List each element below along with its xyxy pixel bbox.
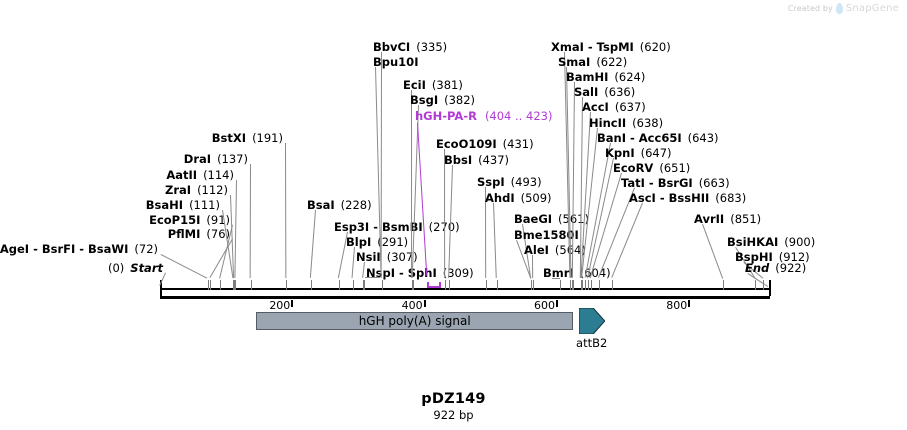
label-separator: - [645, 176, 658, 190]
enzyme-position: (291) [377, 235, 408, 249]
enzyme-label-BsaI: BsaI(228) [307, 199, 372, 211]
snapgene-watermark: Created by SnapGene [788, 3, 899, 14]
watermark-created-by: Created by [788, 4, 833, 13]
leader-line-BstXI [285, 143, 286, 278]
enzyme-name: BstXI [212, 131, 246, 145]
leader-line-BlpI [352, 247, 355, 278]
enzyme-label-BstXI: BstXI(191) [212, 132, 283, 144]
enzyme-name: ZraI [165, 183, 191, 197]
ruler-label-600: 600 [534, 299, 555, 312]
enzyme-name: BbvCI [373, 40, 410, 54]
enzyme-label-ZraI: ZraI(112) [165, 184, 228, 196]
start-position: (0) [108, 261, 124, 275]
enzyme-label-Esp3I: Esp3I - BsmBI(270) [334, 221, 460, 233]
ruler-tick-200 [291, 300, 293, 307]
label-separator: - [656, 191, 669, 205]
enzyme-label-TatI: TatI - BsrGI(663) [621, 177, 730, 189]
leader-line-BsaI [310, 210, 316, 278]
feature-label: hGH poly(A) signal [359, 314, 471, 328]
cut-site-tick-228 [311, 280, 312, 290]
cut-site-tick-493 [486, 280, 487, 290]
label-separator: - [29, 242, 42, 256]
ruler-label-200: 200 [269, 299, 290, 312]
enzyme-label-BbvCI: BbvCI(335) [373, 41, 447, 53]
leader-line-NsiI [362, 262, 365, 278]
leader-line-BmrI [552, 278, 560, 279]
enzyme-label-PflMI: PflMI(76) [168, 228, 230, 240]
enzyme-name: BbsI [444, 153, 472, 167]
enzyme-position: (851) [730, 212, 761, 226]
enzyme-label-SalI: SalI(636) [574, 86, 635, 98]
label-separator: - [584, 40, 597, 54]
enzyme-name: BlpI [346, 235, 371, 249]
enzyme-label-BaeGI: BaeGI(561) [514, 213, 589, 225]
enzyme-name: Bpu10I [373, 55, 418, 69]
enzyme-position: (638) [632, 116, 663, 130]
enzyme-label-HincII: HincII(638) [589, 117, 663, 129]
enzyme-name: AhdI [485, 191, 515, 205]
enzyme-position: (381) [432, 78, 463, 92]
enzyme-name: EcoP15I [149, 213, 200, 227]
cut-site-tick-509 [497, 280, 498, 290]
primer-marker-end-0 [427, 282, 429, 288]
enzyme-position: (228) [341, 198, 372, 212]
enzyme-label-KpnI: KpnI(647) [605, 147, 672, 159]
leader-line-EcoO109I [444, 149, 445, 278]
enzyme-name: EcoO109I [436, 137, 497, 151]
enzyme-position: (431) [503, 137, 534, 151]
enzyme-name: SalI [574, 85, 598, 99]
enzyme-label-BanI: BanI - Acc65I(643) [597, 132, 719, 144]
label-separator: - [626, 131, 639, 145]
enzyme-label-BsaHI: BsaHI(111) [146, 199, 220, 211]
enzyme-label-AscI: AscI - BssHII(683) [629, 192, 746, 204]
enzyme-name: BsrGI [658, 176, 693, 190]
cut-site-tick-643 [585, 280, 586, 290]
cut-site-tick-437 [449, 280, 450, 290]
cut-site-tick-431 [445, 280, 446, 290]
feature-hGH poly(A) signal[interactable]: hGH poly(A) signal [256, 312, 574, 330]
enzyme-position: (647) [641, 146, 672, 160]
enzyme-label-BlpI: BlpI(291) [346, 236, 408, 248]
ruler-label-400: 400 [402, 299, 423, 312]
ruler-tick-600 [556, 300, 558, 307]
cut-site-tick-561 [531, 280, 532, 290]
ruler-label-800: 800 [666, 299, 687, 312]
enzyme-position: (622) [596, 55, 627, 69]
enzyme-label-EcoRV: EcoRV(651) [613, 162, 690, 174]
enzyme-name: BamHI [566, 70, 608, 84]
cut-site-tick-137 [251, 280, 252, 290]
enzyme-label-XmaI: XmaI - TspMI(620) [551, 41, 671, 53]
feature-attB2[interactable] [579, 308, 605, 338]
cut-site-tick-335 [382, 280, 383, 290]
enzyme-name: SmaI [558, 55, 590, 69]
cut-site-tick-638 [582, 280, 583, 290]
enzyme-position: (137) [217, 152, 248, 166]
primer-marker-end-1 [439, 282, 441, 288]
enzyme-name: AgeI [0, 242, 29, 256]
cut-site-tick-564 [533, 280, 534, 290]
enzyme-name: KpnI [605, 146, 635, 160]
cut-site-tick-651 [591, 280, 592, 290]
leader-line-AatII [234, 180, 237, 278]
plasmid-name: pDZ149 [0, 391, 907, 407]
snapgene-drop-icon [836, 3, 843, 14]
enzyme-name: SspI [477, 175, 505, 189]
cut-site-tick-72 [208, 280, 209, 290]
enzyme-label-AvrII: AvrII(851) [694, 213, 761, 225]
enzyme-name: BsaHI [146, 198, 183, 212]
cut-site-tick-291 [353, 280, 354, 290]
enzyme-name: BsgI [410, 93, 438, 107]
feature-arrow-label-attB2: attB2 [576, 336, 607, 350]
enzyme-label-BbsI: BbsI(437) [444, 154, 509, 166]
leader-line-AvrII [702, 224, 723, 278]
enzyme-name: EciI [403, 78, 426, 92]
enzyme-position: (335) [416, 40, 447, 54]
primer-leader-line [417, 123, 427, 276]
enzyme-label-EcoP15I: EcoP15I(91) [149, 214, 230, 226]
cut-site-tick-76 [210, 280, 211, 290]
end-position: (922) [775, 261, 806, 275]
leader-line-AleI [532, 255, 533, 278]
enzyme-position: (437) [478, 153, 509, 167]
cut-site-tick-91 [220, 280, 221, 290]
enzyme-name: XmaI [551, 40, 584, 54]
enzyme-position: (112) [197, 183, 228, 197]
enzyme-name: AccI [582, 100, 609, 114]
enzyme-name: AvrII [694, 212, 724, 226]
label-separator: - [75, 242, 88, 256]
cut-site-tick-624 [573, 280, 574, 290]
enzyme-name: NsiI [356, 250, 381, 264]
enzyme-name: HincII [589, 116, 626, 130]
cut-site-tick-270 [339, 280, 340, 290]
enzyme-label-SmaI: SmaI(622) [558, 56, 627, 68]
enzyme-position: (624) [614, 70, 645, 84]
enzyme-label-AccI: AccI(637) [582, 101, 646, 113]
enzyme-label-SspI: SspI(493) [477, 176, 542, 188]
enzyme-position: (683) [715, 191, 746, 205]
cut-site-tick-663 [599, 280, 600, 290]
cut-site-tick-114 [235, 280, 236, 290]
enzyme-position: (493) [511, 175, 542, 189]
enzyme-name: PflMI [168, 227, 201, 241]
enzyme-position: (636) [604, 85, 635, 99]
start-label: (0)Start [108, 262, 163, 274]
enzyme-name: BsaI [307, 198, 335, 212]
enzyme-label-NsiI: NsiI(307) [356, 251, 418, 263]
enzyme-name: TspMI [597, 40, 634, 54]
primer-range: (404 .. 423) [485, 109, 553, 123]
enzyme-name: BsaWI [88, 242, 128, 256]
enzyme-position: (72) [134, 242, 158, 256]
enzyme-position: (191) [252, 131, 283, 145]
enzyme-name: BanI [597, 131, 626, 145]
start-text: Start [130, 261, 163, 275]
enzyme-position: (620) [640, 40, 671, 54]
enzyme-name: AatII [166, 168, 197, 182]
plasmid-map: 200400600800AgeI - BsrFI - BsaWI(72)PflM… [0, 0, 907, 430]
leader-line-DraI [250, 164, 251, 278]
leader-line-AhdI [493, 203, 497, 278]
end-label: End(922) [745, 262, 806, 274]
enzyme-position: (111) [189, 198, 220, 212]
cut-site-tick-382 [413, 280, 414, 290]
enzyme-name: Acc65I [639, 131, 682, 145]
enzyme-name: BaeGI [514, 212, 552, 226]
plasmid-size: 922 bp [0, 408, 907, 422]
enzyme-position: (651) [659, 161, 690, 175]
cut-site-tick-900 [755, 280, 756, 290]
leader-line-AscI [611, 203, 643, 278]
leader-line-AgeI [161, 254, 208, 279]
enzyme-position: (900) [784, 235, 815, 249]
cut-site-tick-604 [560, 280, 561, 290]
enzyme-label-AhdI: AhdI(509) [485, 192, 552, 204]
ruler-tick-400 [424, 300, 426, 307]
enzyme-label-DraI: DraI(137) [184, 153, 248, 165]
enzyme-label-BsgI: BsgI(382) [410, 94, 475, 106]
enzyme-position: (643) [688, 131, 719, 145]
enzyme-name: BsrFI [42, 242, 75, 256]
enzyme-label-AleI: AleI(564) [524, 244, 586, 256]
enzyme-position: (663) [699, 176, 730, 190]
sequence-end-cap [769, 280, 771, 296]
enzyme-label-NspI: NspI - SphI(309) [366, 267, 474, 279]
cut-site-tick-309 [364, 280, 365, 290]
primer-name: hGH-PA-R [415, 109, 477, 123]
cut-site-tick-683 [612, 280, 613, 290]
enzyme-position: (91) [206, 213, 230, 227]
label-separator: - [395, 266, 408, 280]
primer-label-hGH-PA-R: hGH-PA-R(404 .. 423) [415, 110, 552, 122]
cut-site-tick-851 [723, 280, 724, 290]
enzyme-position: (382) [444, 93, 475, 107]
enzyme-label-BamHI: BamHI(624) [566, 71, 645, 83]
enzyme-label-EcoO109I: EcoO109I(431) [436, 138, 534, 150]
enzyme-label-Bpu10I: Bpu10I [373, 56, 418, 68]
leader-line-NspI [364, 277, 379, 278]
enzyme-name: BssHII [669, 191, 710, 205]
enzyme-label-AgeI: AgeI - BsrFI - BsaWI(72) [0, 243, 158, 255]
watermark-brand: SnapGene [846, 3, 899, 14]
enzyme-label-AatII: AatII(114) [166, 169, 234, 181]
enzyme-name: EcoRV [613, 161, 653, 175]
cut-site-tick-191 [286, 280, 287, 290]
enzyme-label-BsiHKAI: BsiHKAI(900) [727, 236, 815, 248]
enzyme-position: (114) [203, 168, 234, 182]
enzyme-name: DraI [184, 152, 211, 166]
cut-site-tick-647 [588, 280, 589, 290]
enzyme-position: (509) [521, 191, 552, 205]
enzyme-position: (637) [615, 100, 646, 114]
enzyme-name: Esp3I [334, 220, 369, 234]
ruler-tick-800 [688, 300, 690, 307]
enzyme-name: BsmBI [382, 220, 423, 234]
enzyme-name: AleI [524, 243, 549, 257]
